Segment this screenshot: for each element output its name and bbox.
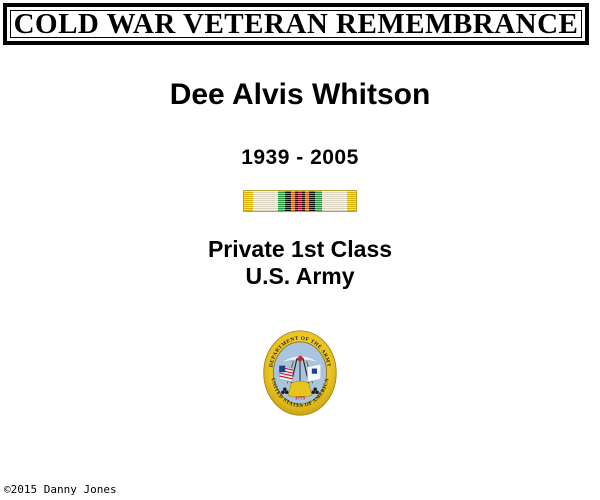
ribbon-stripe-4 — [278, 191, 285, 211]
seal-year: 1775 — [295, 396, 306, 402]
ribbon-stripe-12 — [315, 191, 322, 211]
rank-branch-block: Private 1st Class U.S. Army — [0, 236, 600, 290]
ribbon-stripe-16 — [347, 191, 356, 211]
ribbon-stripe-2 — [256, 191, 276, 211]
veteran-rank: Private 1st Class — [0, 236, 600, 263]
veteran-dates: 1939 - 2005 — [0, 146, 600, 170]
department-of-the-army-seal: DEPARTMENT OF THE ARMY UNITED STATES OF … — [263, 330, 337, 416]
veteran-branch: U.S. Army — [0, 263, 600, 290]
header-inner-border: COLD WAR VETERAN REMEMBRANCE — [10, 10, 582, 38]
copyright-notice: ©2015 Danny Jones — [4, 483, 117, 496]
seal-container: DEPARTMENT OF THE ARMY UNITED STATES OF … — [0, 330, 600, 416]
ribbon-stripe-0 — [244, 191, 253, 211]
header-banner: COLD WAR VETERAN REMEMBRANCE — [3, 3, 589, 45]
seal-us-flag — [279, 366, 292, 382]
vietnam-service-medal-ribbon — [243, 190, 357, 212]
ribbon-stripe-14 — [324, 191, 344, 211]
page-title: COLD WAR VETERAN REMEMBRANCE — [14, 10, 579, 39]
service-ribbon-container — [0, 190, 600, 212]
veteran-name: Dee Alvis Whitson — [0, 78, 600, 112]
